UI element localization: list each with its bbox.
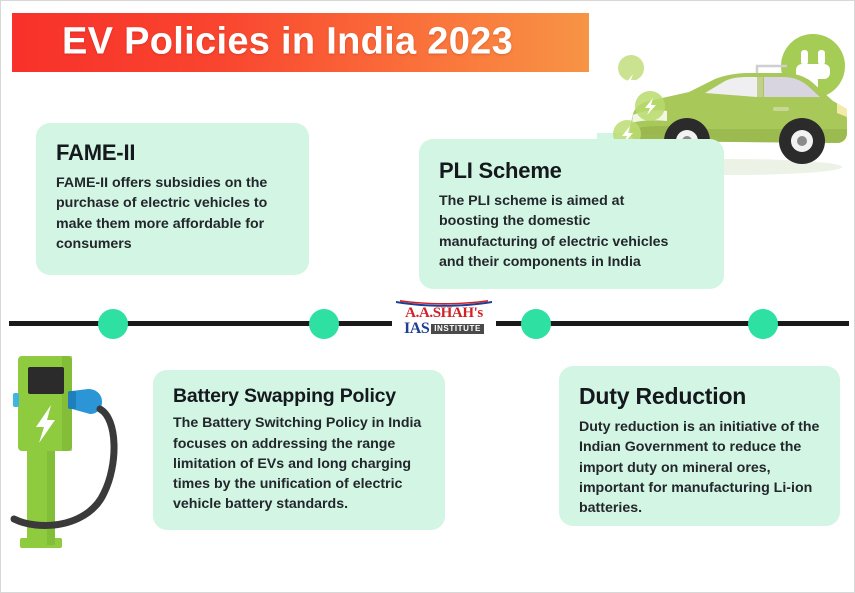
card-title: Battery Swapping Policy	[173, 386, 425, 407]
card-title: PLI Scheme	[439, 159, 704, 183]
timeline-dot-2	[309, 309, 339, 339]
logo-institute-badge: INSTITUTE	[431, 324, 484, 334]
card-body: The Battery Switching Policy in India fo…	[173, 413, 425, 514]
card-body: Duty reduction is an initiative of the I…	[579, 417, 820, 518]
title-banner: EV Policies in India 2023	[12, 13, 589, 72]
policy-card-pli-scheme: PLI Scheme The PLI scheme is aimed at bo…	[419, 139, 724, 289]
page-title: EV Policies in India 2023	[62, 20, 513, 63]
brand-logo: A.A.SHAH's IAS INSTITUTE	[392, 300, 496, 340]
policy-card-fame-ii: FAME-II FAME-II offers subsidies on the …	[36, 123, 309, 275]
card-title: Duty Reduction	[579, 384, 820, 409]
card-title: FAME-II	[56, 141, 289, 165]
policy-card-duty-reduction: Duty Reduction Duty reduction is an init…	[559, 366, 840, 526]
lightning-bolt-icon	[635, 91, 665, 121]
ev-charging-station-illustration	[6, 353, 148, 553]
card-body: The PLI scheme is aimed at boosting the …	[439, 191, 704, 272]
card-body: FAME-II offers subsidies on the purchase…	[56, 173, 289, 254]
timeline-dot-4	[748, 309, 778, 339]
infographic-canvas: EV Policies in India 2023	[0, 0, 855, 593]
policy-card-battery-swapping-policy: Battery Swapping Policy The Battery Swit…	[153, 370, 445, 530]
logo-ias-text: IAS	[404, 321, 429, 337]
logo-primary-text: A.A.SHAH's	[392, 306, 496, 321]
timeline-dot-1	[98, 309, 128, 339]
timeline-dot-3	[521, 309, 551, 339]
lightning-bolt-icon	[618, 55, 644, 89]
